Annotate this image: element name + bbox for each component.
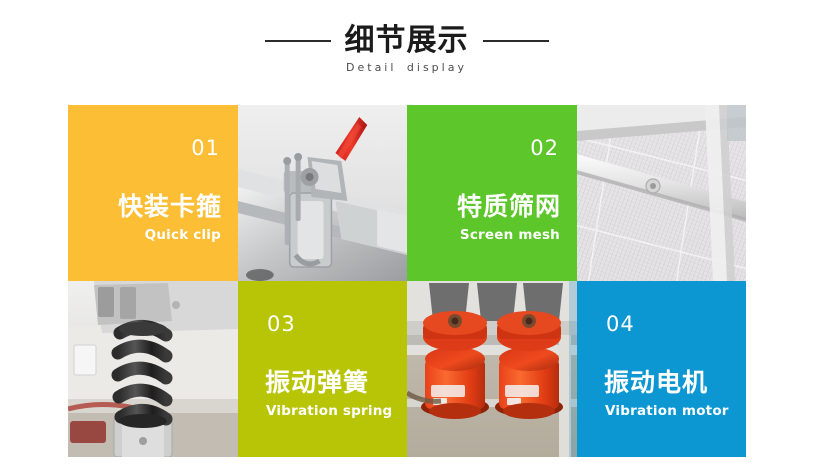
page-header: 细节展示 Detail display	[0, 22, 813, 84]
detail-title-cn-02: 特质筛网	[457, 193, 561, 220]
detail-number-01: 01	[191, 138, 220, 159]
grid-cell-photo-04	[407, 281, 577, 457]
grid-cell-photo-03	[68, 281, 238, 457]
grid-cell-photo-02	[577, 105, 746, 281]
detail-title-en-01: Quick clip	[145, 228, 221, 243]
quick-clip-clamp-photo	[238, 105, 407, 281]
title-row: 细节展示	[265, 22, 549, 60]
screen-mesh-photo	[577, 105, 746, 281]
grid-cell-label-03: 03 振动弹簧 Vibration spring	[238, 281, 407, 457]
vibration-spring-photo	[68, 281, 238, 457]
detail-grid: 01 快装卡箍 Quick clip	[68, 105, 746, 457]
detail-card-03[interactable]: 03 振动弹簧 Vibration spring	[238, 281, 407, 457]
title-rule-left	[265, 40, 331, 42]
page-title: 细节展示	[345, 24, 469, 58]
grid-cell-label-04: 04 振动电机 Vibration motor	[577, 281, 746, 457]
title-rule-right	[483, 40, 549, 42]
detail-card-01[interactable]: 01 快装卡箍 Quick clip	[68, 105, 238, 281]
detail-number-04: 04	[606, 314, 635, 335]
page-subtitle: Detail display	[346, 61, 467, 74]
detail-title-en-02: Screen mesh	[460, 228, 560, 243]
detail-card-02[interactable]: 02 特质筛网 Screen mesh	[407, 105, 577, 281]
detail-title-cn-01: 快装卡箍	[118, 193, 222, 220]
detail-title-cn-03: 振动弹簧	[265, 369, 369, 396]
grid-cell-label-01: 01 快装卡箍 Quick clip	[68, 105, 238, 281]
detail-title-en-03: Vibration spring	[266, 404, 392, 419]
detail-title-en-04: Vibration motor	[605, 404, 729, 419]
grid-cell-photo-01	[238, 105, 407, 281]
detail-card-04[interactable]: 04 振动电机 Vibration motor	[577, 281, 746, 457]
grid-cell-label-02: 02 特质筛网 Screen mesh	[407, 105, 577, 281]
detail-number-03: 03	[267, 314, 296, 335]
vibration-motor-photo	[407, 281, 577, 457]
detail-title-cn-04: 振动电机	[604, 369, 708, 396]
detail-number-02: 02	[530, 138, 559, 159]
